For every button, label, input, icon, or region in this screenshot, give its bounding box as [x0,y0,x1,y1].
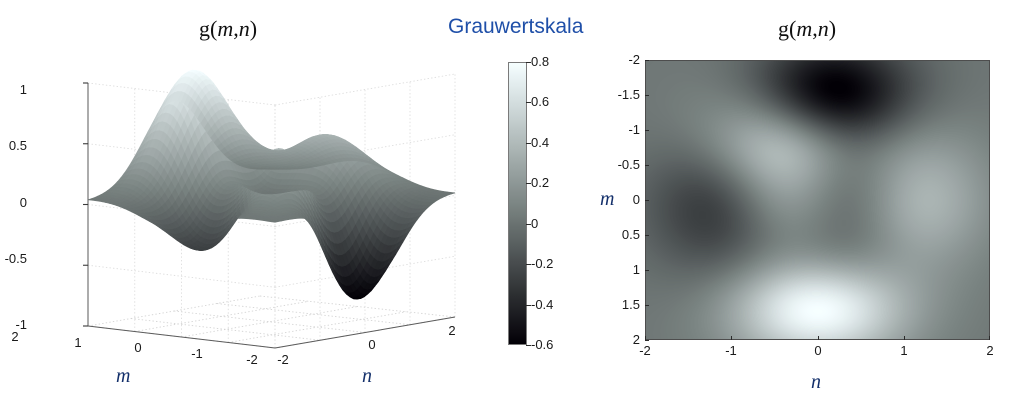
colorbar-ticklabel: 0.6 [531,95,549,108]
colorbar-group: Grauwertskala 0.80.60.40.20-0.2-0.4-0.6 [440,0,610,404]
image-title-n: n [818,16,829,41]
image-y-tickmark [645,95,649,96]
image-axes[interactable] [645,60,990,340]
image-ylabel-m: m [600,189,614,209]
surface-ztick-2: 0 [0,196,27,209]
image-y-tickmark [645,235,649,236]
colorbar-ticklabel: -0.2 [531,257,553,270]
image-y-tickmark [645,200,649,201]
surface-mtick-3: -1 [186,347,208,360]
surface-mtick-0: 2 [6,330,24,343]
colorbar-title: Grauwertskala [448,16,583,37]
image-y-ticklabel: -1.5 [607,88,640,101]
image-x-tickmark [904,336,905,340]
colorbar-ticklabel: 0 [531,217,538,230]
surface-mtick-2: 0 [129,341,147,354]
image-x-ticklabel: 2 [978,344,1002,357]
image-plot-title: g(m,n) [778,18,836,40]
colorbar-ticklabel: 0.4 [531,136,549,149]
image-y-ticklabel: 0.5 [607,228,640,241]
image-y-ticklabel: -1 [607,123,640,136]
surface-mtick-1: 1 [69,336,87,349]
surface-ntick-1: 0 [363,338,381,351]
colorbar-ticklabel: -0.6 [531,338,553,351]
surface-ztick-0: 1 [0,83,27,96]
colorbar-ticklabel: -0.4 [531,298,553,311]
figure-root: g(m,n) 1 0.5 0 -0.5 -1 2 1 0 -1 -2 -2 0 … [0,0,1010,404]
image-x-ticklabel: 1 [892,344,916,357]
image-x-tickmark [989,336,990,340]
image-y-ticklabel: -2 [607,53,640,66]
image-x-ticklabel: -1 [719,344,743,357]
image-x-tickmark [731,336,732,340]
image-title-close: ) [829,16,836,41]
image-xlabel-n: n [811,372,821,392]
surface-ylabel-n: n [362,366,372,386]
image-y-tickmark [645,340,649,341]
image-y-tickmark [645,130,649,131]
image-x-ticklabel: 0 [806,344,830,357]
surface-mtick-4: -2 [241,353,263,366]
surface-ztick-3: -0.5 [0,252,27,265]
colorbar-ticklabel: 0.2 [531,176,549,189]
image-plot-panel: g(m,n) -2-1.5-1-0.500.511.52 -2-1012 m n [600,0,1010,404]
surface-xlabel-m: m [116,366,130,386]
image-y-tickmark [645,60,649,61]
surface-ntick-0: -2 [272,353,294,366]
colorbar-strip[interactable] [508,62,527,345]
image-y-tickmark [645,305,649,306]
image-x-ticklabel: -2 [633,344,657,357]
image-y-tickmark [645,270,649,271]
surface-z-tickmarks [83,83,88,326]
image-y-tickmark [645,165,649,166]
image-y-ticklabel: 1.5 [607,298,640,311]
grayscale-image [646,61,990,340]
image-title-m: m [796,16,812,41]
image-x-tickmark [818,336,819,340]
image-x-tickmark [645,336,646,340]
image-y-ticklabel: -0.5 [607,158,640,171]
surface-ztick-1: 0.5 [0,139,27,152]
image-y-ticklabel: 1 [607,263,640,276]
image-title-g: g( [778,16,796,41]
colorbar-ticklabel: 0.8 [531,55,549,68]
surface-plot-panel: g(m,n) 1 0.5 0 -0.5 -1 2 1 0 -1 -2 -2 0 … [0,0,500,404]
